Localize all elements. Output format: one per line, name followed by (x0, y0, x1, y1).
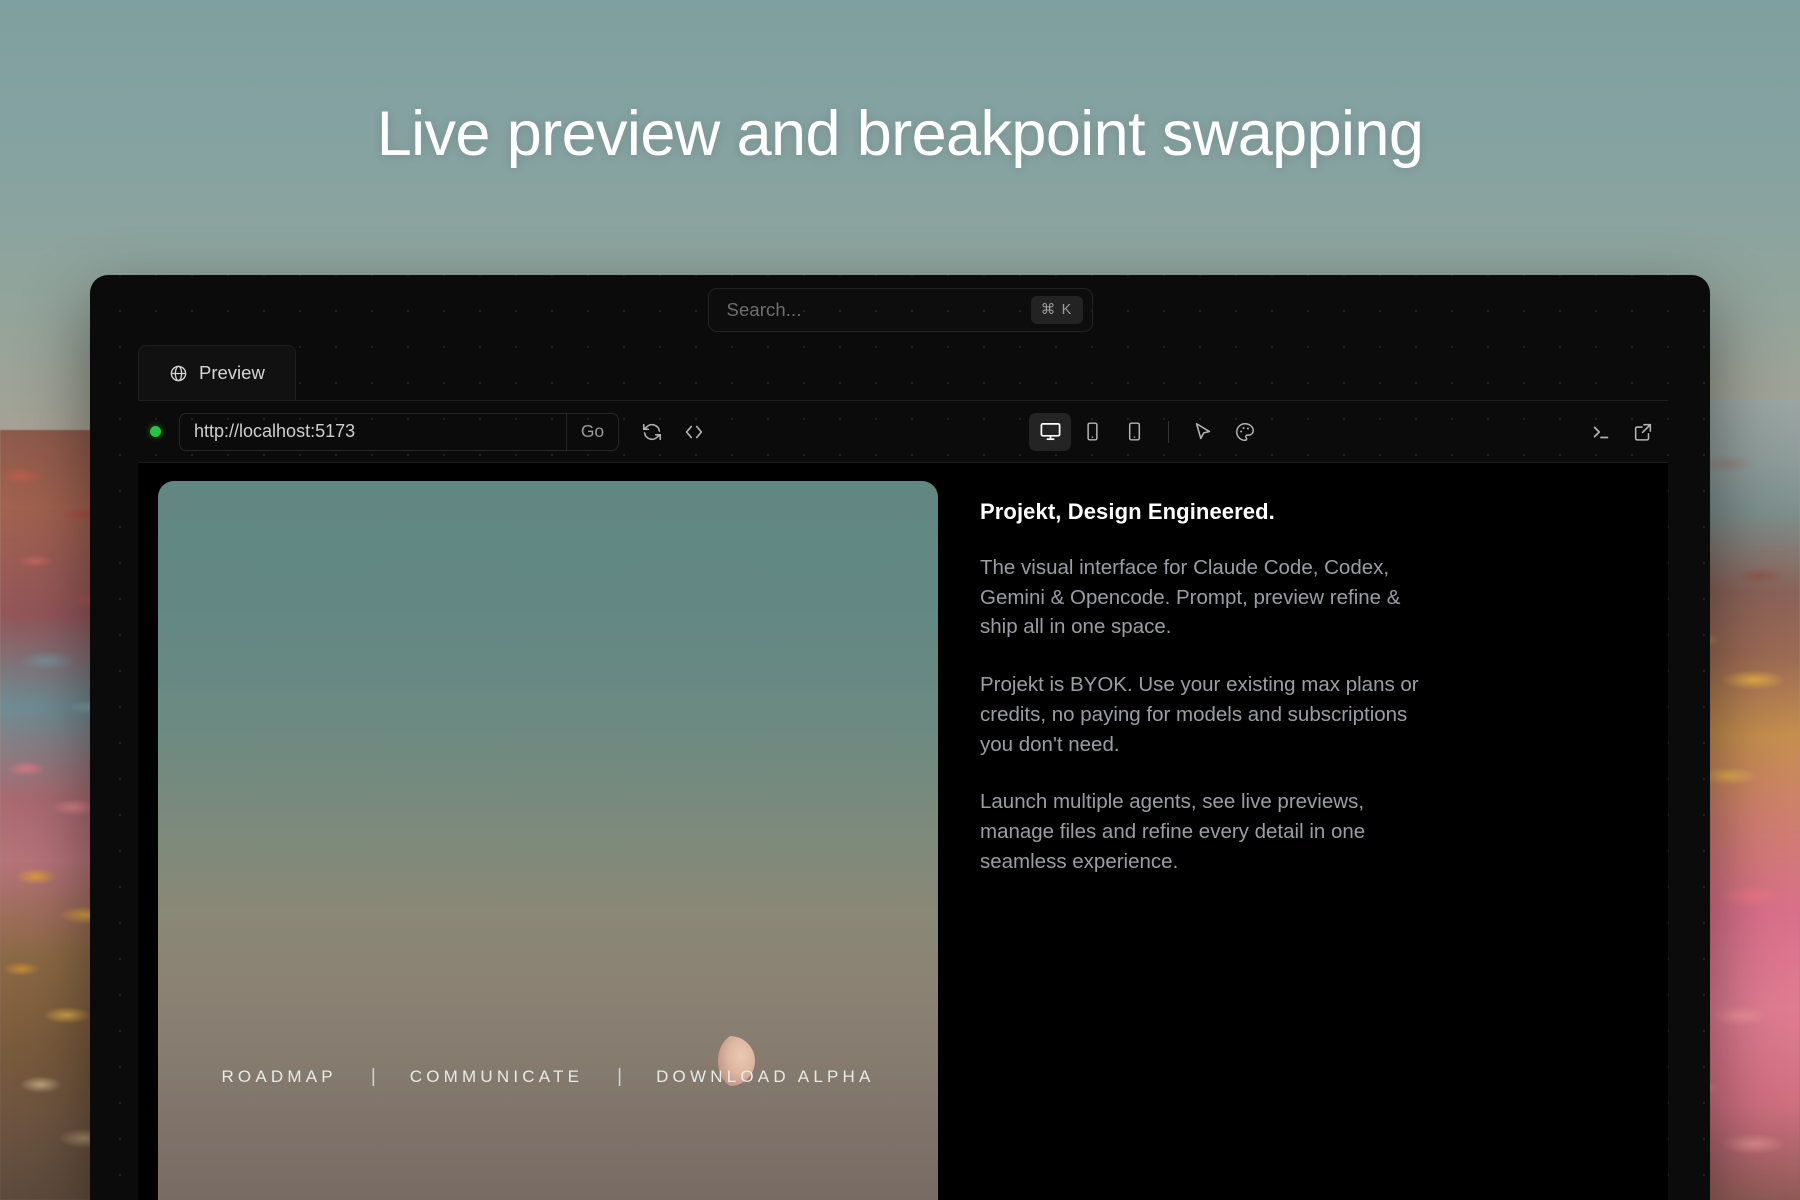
nav-separator: | (617, 1066, 622, 1088)
app-window: Search... ⌘ K Preview http://localhost:5… (90, 275, 1710, 1200)
url-toolbar: http://localhost:5173 Go (138, 401, 1668, 463)
palette-icon[interactable] (1224, 413, 1266, 451)
window-topbar: Search... ⌘ K (90, 275, 1710, 345)
info-paragraph-3: Launch multiple agents, see live preview… (980, 787, 1420, 876)
url-field[interactable]: http://localhost:5173 Go (179, 413, 619, 451)
search-placeholder: Search... (727, 299, 1031, 321)
preview-canvas[interactable]: ROADMAP | COMMUNICATE | DOWNLOAD ALPHA H… (158, 481, 938, 1200)
page-headline: Live preview and breakpoint swapping (0, 100, 1800, 169)
info-paragraph-2: Projekt is BYOK. Use your existing max p… (980, 670, 1420, 759)
mobile-icon[interactable] (1113, 413, 1155, 451)
nav-link-roadmap[interactable]: ROADMAP (221, 1067, 336, 1087)
status-dot-live (150, 426, 161, 437)
info-pane: Projekt, Design Engineered. The visual i… (938, 463, 1668, 1200)
open-external-icon[interactable] (1622, 413, 1664, 451)
content-area: ROADMAP | COMMUNICATE | DOWNLOAD ALPHA H… (138, 463, 1668, 1200)
cursor-icon[interactable] (1182, 413, 1224, 451)
info-title: Projekt, Design Engineered. (980, 499, 1616, 525)
search-input[interactable]: Search... ⌘ K (708, 288, 1093, 332)
search-shortcut-badge: ⌘ K (1031, 296, 1083, 324)
go-button[interactable]: Go (566, 414, 618, 450)
tab-strip: Preview (138, 345, 1668, 401)
info-paragraph-1: The visual interface for Claude Code, Co… (980, 553, 1420, 642)
tab-preview[interactable]: Preview (138, 345, 296, 400)
code-icon[interactable] (673, 413, 715, 451)
preview-site-nav: ROADMAP | COMMUNICATE | DOWNLOAD ALPHA (158, 1066, 938, 1088)
toolbar-divider (1168, 421, 1169, 443)
tablet-icon[interactable] (1071, 413, 1113, 451)
tab-preview-label: Preview (199, 362, 265, 384)
url-input[interactable]: http://localhost:5173 (180, 414, 566, 450)
nav-link-communicate[interactable]: COMMUNICATE (410, 1067, 583, 1087)
refresh-icon[interactable] (631, 413, 673, 451)
globe-icon (169, 364, 188, 383)
preview-pane: ROADMAP | COMMUNICATE | DOWNLOAD ALPHA H… (138, 463, 938, 1200)
nav-separator: | (371, 1066, 376, 1088)
nav-link-download-alpha[interactable]: DOWNLOAD ALPHA (656, 1067, 874, 1087)
terminal-icon[interactable] (1580, 413, 1622, 451)
desktop-icon[interactable] (1029, 413, 1071, 451)
